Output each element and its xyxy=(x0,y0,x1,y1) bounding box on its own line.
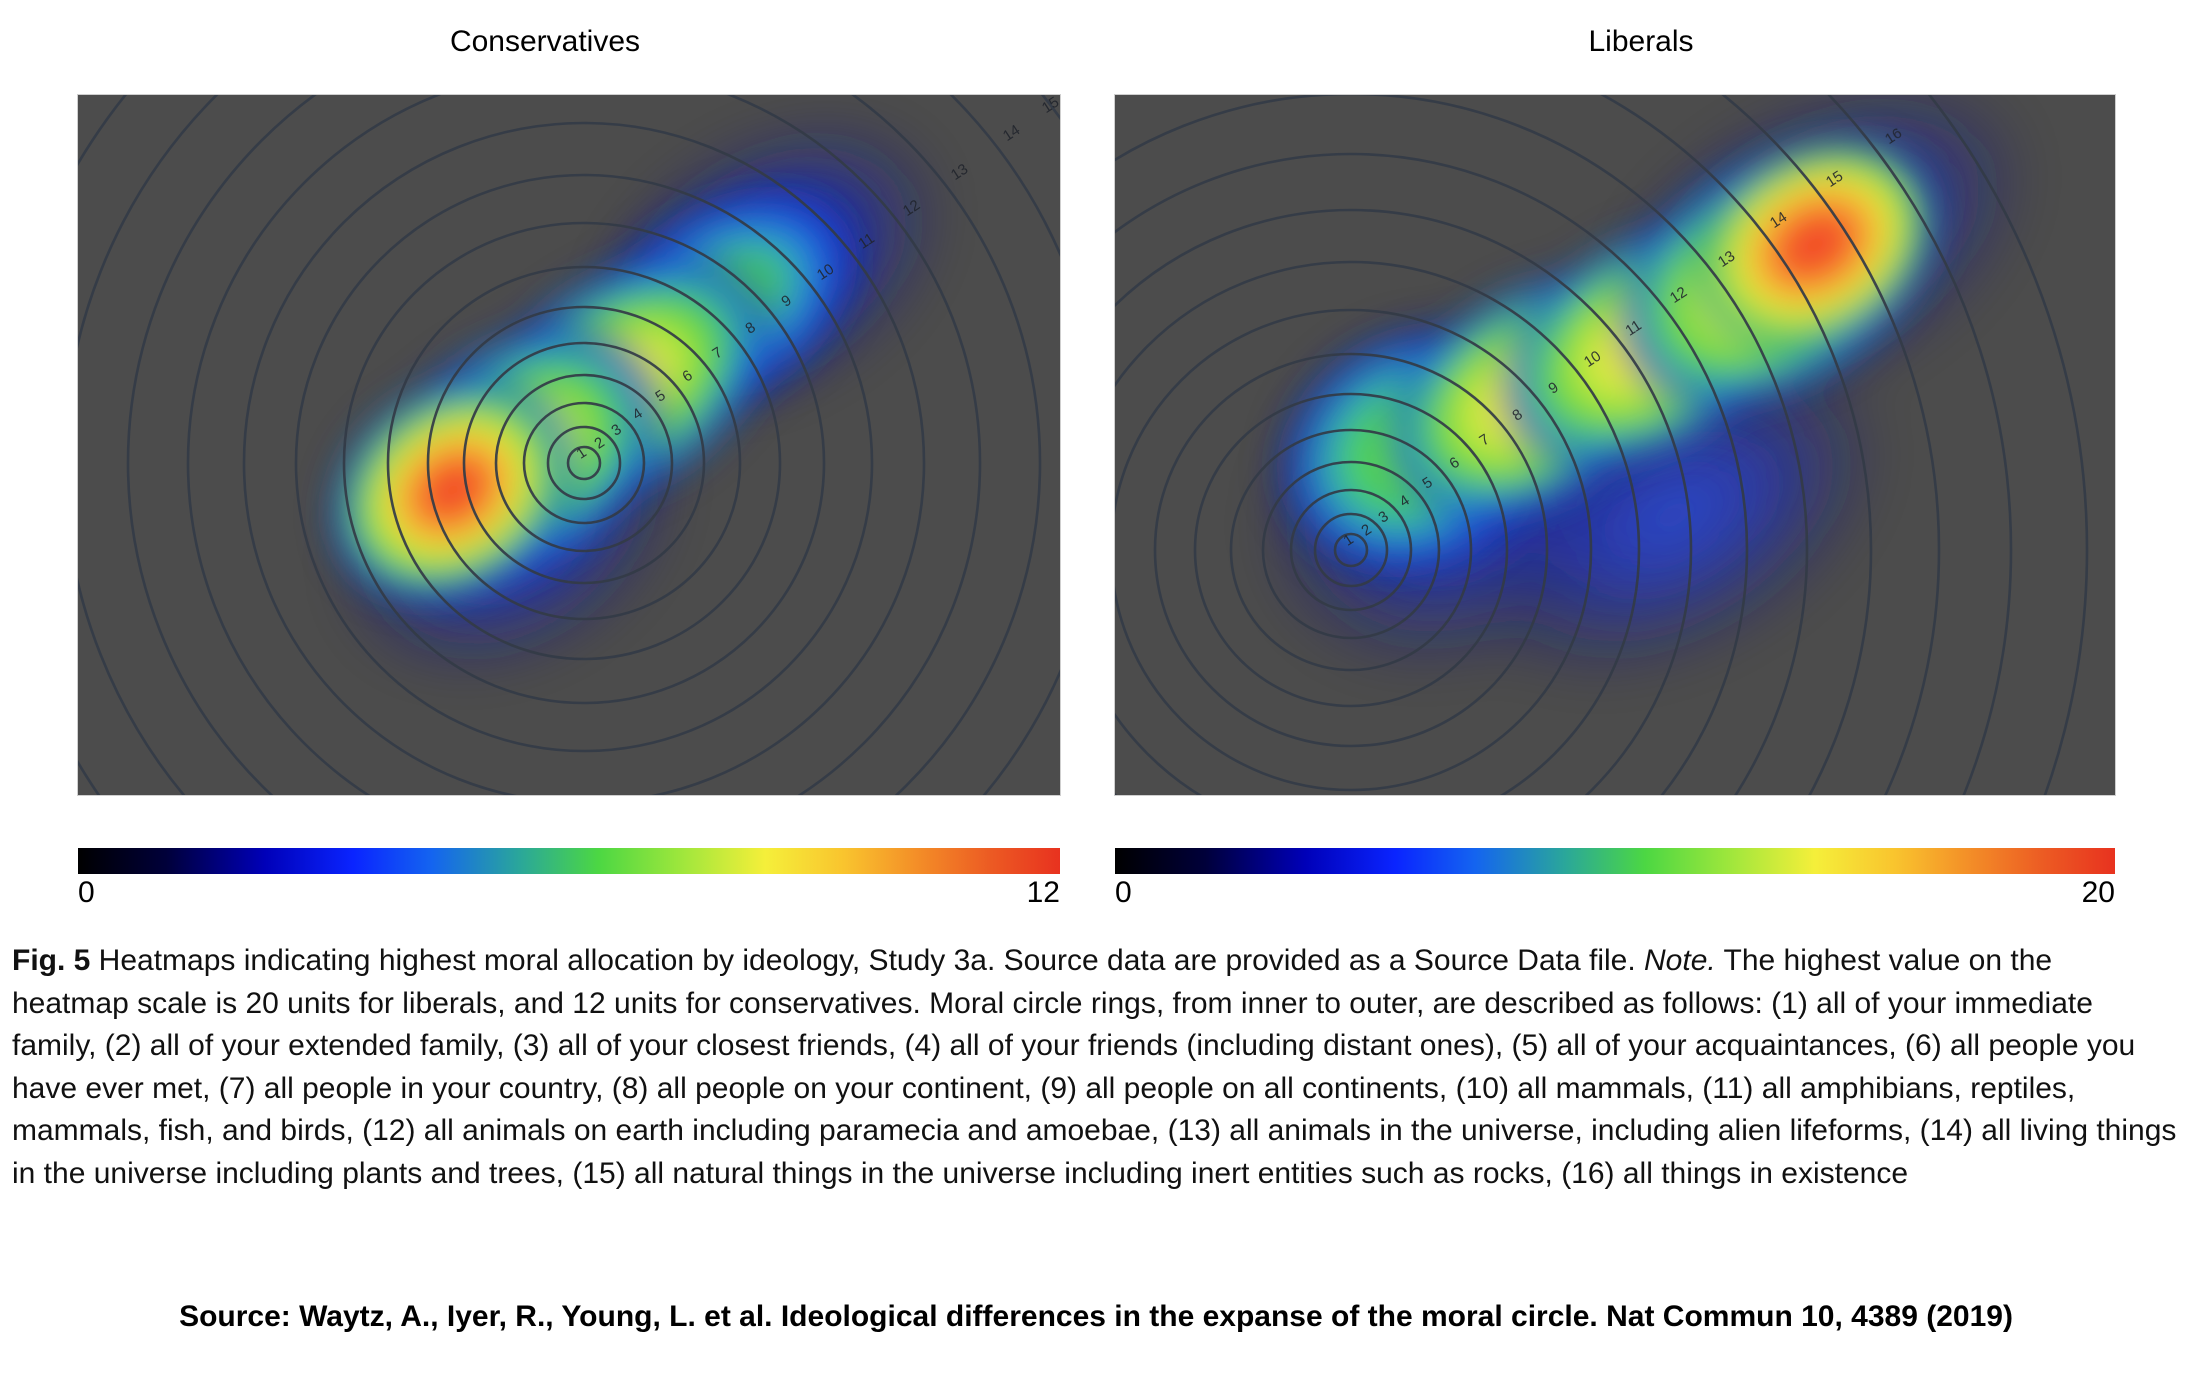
colorbar-max-conservatives: 12 xyxy=(1027,878,1060,908)
plot-area-conservatives: 1 2 3 4 5 6 7 8 9 10 11 12 13 xyxy=(78,95,1060,795)
figure-label: Fig. 5 xyxy=(12,944,90,977)
panel-liberals: Liberals xyxy=(1090,0,2192,900)
colorbar-labels-liberals: 0 20 xyxy=(1115,878,2115,908)
figure-source: Source: Waytz, A., Iyer, R., Young, L. e… xyxy=(0,1300,2192,1334)
figure-caption: Fig. 5 Heatmaps indicating highest moral… xyxy=(12,940,2177,1196)
panel-title-conservatives: Conservatives xyxy=(0,27,1090,57)
colorbar-min-liberals: 0 xyxy=(1115,878,1132,908)
caption-rest: The highest value on the heatmap scale i… xyxy=(12,944,2176,1190)
panel-conservatives: Conservatives xyxy=(0,0,1090,900)
heatmap-conservatives: 1 2 3 4 5 6 7 8 9 10 11 12 13 xyxy=(78,95,1060,795)
colorbar-conservatives: 0 12 xyxy=(78,848,1060,908)
heatmap-svg-conservatives: 1 2 3 4 5 6 7 8 9 10 11 12 13 xyxy=(78,95,1060,795)
colorbar-liberals: 0 20 xyxy=(1115,848,2115,908)
heatmap-liberals: 1 2 3 4 5 6 7 8 9 10 11 12 13 xyxy=(1115,95,2115,795)
heatmap-svg-liberals: 1 2 3 4 5 6 7 8 9 10 11 12 13 xyxy=(1115,95,2115,795)
plot-area-liberals: 1 2 3 4 5 6 7 8 9 10 11 12 13 xyxy=(1115,95,2115,795)
colorbar-labels-conservatives: 0 12 xyxy=(78,878,1060,908)
colorbar-max-liberals: 20 xyxy=(2082,878,2115,908)
caption-note-word: Note. xyxy=(1644,944,1716,977)
colorbar-gradient-conservatives xyxy=(78,848,1060,874)
caption-body: Heatmaps indicating highest moral alloca… xyxy=(90,944,1644,977)
panels-row: Conservatives xyxy=(0,0,2192,900)
figure-root: Conservatives xyxy=(0,0,2192,1400)
panel-title-liberals: Liberals xyxy=(1090,27,2192,57)
colorbar-min-conservatives: 0 xyxy=(78,878,95,908)
colorbar-gradient-liberals xyxy=(1115,848,2115,874)
